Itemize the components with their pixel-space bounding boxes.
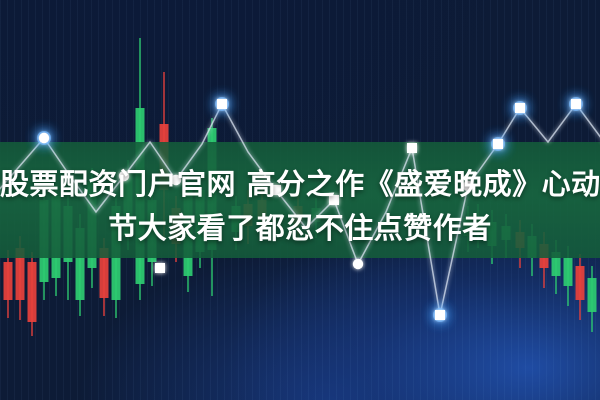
- caption-line-2: 节大家看了都忍不住点赞作者: [0, 206, 600, 250]
- banner-caption: 股票配资门户官网 高分之作《盛爱晚成》心动情 节大家看了都忍不住点赞作者: [0, 162, 600, 250]
- caption-line-1: 股票配资门户官网 高分之作《盛爱晚成》心动情: [0, 162, 600, 206]
- banner-image: 股票配资门户官网 高分之作《盛爱晚成》心动情 节大家看了都忍不住点赞作者: [0, 0, 600, 400]
